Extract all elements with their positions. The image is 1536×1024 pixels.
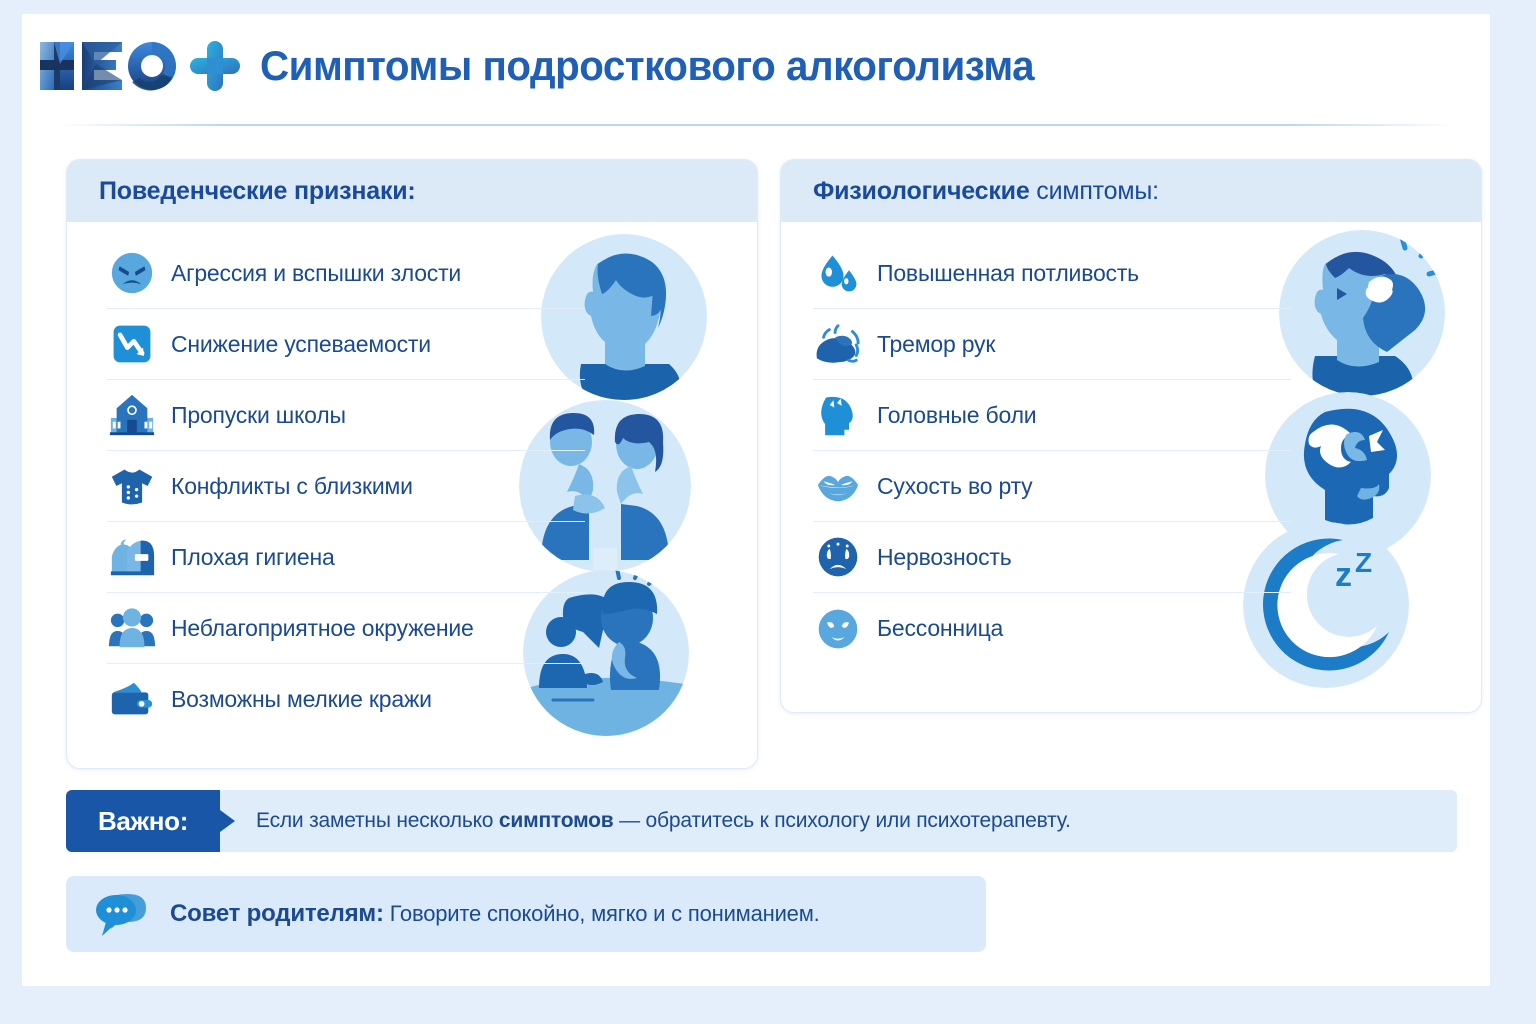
page-title: Симптомы подросткового алкоголизма — [260, 42, 1034, 90]
tshirt-icon — [107, 461, 157, 511]
card-header-physiological: Физиологические симптомы: — [781, 160, 1481, 222]
list-item-label: Головные боли — [877, 402, 1036, 429]
header-divider — [58, 124, 1456, 126]
list-item-label: Сухость во рту — [877, 473, 1032, 500]
card-title-bold: Поведенческие признаки: — [99, 177, 416, 205]
list-item[interactable]: Повышенная потливость — [813, 238, 1291, 309]
important-text-bold: симптомов — [499, 809, 614, 832]
card-body-physiological: z Z Повышенная потливость — [781, 222, 1481, 712]
list-item-label: Конфликты с близкими — [171, 473, 413, 500]
list-item[interactable]: Тремор рук — [813, 309, 1291, 380]
list-item-label: Бессонница — [877, 615, 1003, 642]
important-tag-label: Важно: — [98, 806, 188, 837]
list-item[interactable]: Сухость во рту — [813, 451, 1291, 522]
wallet-icon — [107, 675, 157, 725]
important-message: Если заметны несколько симптомов — обрат… — [256, 809, 1071, 833]
behavioral-symptom-list: Агрессия и вспышки злости Снижение успев… — [67, 238, 757, 735]
important-banner: Важно: Если заметны несколько симптомов … — [66, 790, 1457, 852]
list-item-label: Плохая гигиена — [171, 544, 335, 571]
list-item-label: Неблагоприятное окружение — [171, 615, 474, 642]
list-item[interactable]: Плохая гигиена — [107, 522, 585, 593]
school-building-icon — [107, 390, 157, 440]
list-item[interactable]: Возможны мелкие кражи — [107, 664, 637, 735]
important-text-before: Если заметны несколько — [256, 809, 499, 832]
important-text-after: — обратитесь к психологу или психотерапе… — [613, 809, 1070, 832]
list-item-label: Повышенная потливость — [877, 260, 1139, 287]
list-item[interactable]: Агрессия и вспышки злости — [107, 238, 585, 309]
list-item[interactable]: Бессонница — [813, 593, 1291, 664]
card-body-behavioral: Агрессия и вспышки злости Снижение успев… — [67, 222, 757, 768]
list-item-label: Агрессия и вспышки злости — [171, 260, 461, 287]
list-item[interactable]: Пропуски школы — [107, 380, 585, 451]
list-item-label: Снижение успеваемости — [171, 331, 431, 358]
advice-message: Совет родителям: Говорите спокойно, мягк… — [170, 900, 820, 928]
list-item-label: Нервозность — [877, 544, 1012, 571]
list-item[interactable]: Снижение успеваемости — [107, 309, 585, 380]
list-item[interactable]: Конфликты с близкими — [107, 451, 585, 522]
list-item[interactable]: Неблагоприятное окружение — [107, 593, 585, 664]
important-tag: Важно: — [66, 790, 220, 852]
infographic-page: Симптомы подросткового алкоголизма Повед… — [22, 14, 1490, 986]
tired-face-icon — [813, 604, 863, 654]
neo-plus-logo-icon — [36, 34, 246, 98]
advice-title: Совет родителям: — [170, 900, 384, 927]
card-physiological-symptoms: Физиологические симптомы: — [780, 159, 1482, 713]
hygiene-soap-icon — [107, 532, 157, 582]
card-behavioral-signs: Поведенческие признаки: — [66, 159, 758, 769]
shaking-hand-icon — [813, 319, 863, 369]
chat-bubbles-icon — [94, 888, 156, 940]
card-title-bold: Физиологические — [813, 177, 1036, 205]
list-item[interactable]: Головные боли — [813, 380, 1291, 451]
advice-body: Говорите спокойно, мягко и с пониманием. — [384, 901, 820, 926]
dry-lips-icon — [813, 461, 863, 511]
angry-face-icon — [107, 248, 157, 298]
group-people-icon — [107, 603, 157, 653]
list-item-label: Пропуски школы — [171, 402, 346, 429]
card-header-behavioral: Поведенческие признаки: — [67, 160, 757, 222]
card-title-behavioral: Поведенческие признаки: — [99, 177, 416, 206]
worried-face-icon — [813, 532, 863, 582]
list-item-label: Тремор рук — [877, 331, 995, 358]
head-pain-icon — [813, 390, 863, 440]
list-item-label: Возможны мелкие кражи — [171, 686, 432, 713]
card-title-light: симптомы: — [1036, 177, 1159, 205]
page-header: Симптомы подросткового алкоголизма — [22, 14, 1490, 118]
physiological-symptom-list: Повышенная потливость — [781, 238, 1481, 664]
card-title-physiological: Физиологические симптомы: — [813, 177, 1159, 206]
list-item[interactable]: Нервозность — [813, 522, 1291, 593]
sweat-drops-icon — [813, 248, 863, 298]
advice-banner: Совет родителям: Говорите спокойно, мягк… — [66, 876, 986, 952]
chart-down-icon — [107, 319, 157, 369]
